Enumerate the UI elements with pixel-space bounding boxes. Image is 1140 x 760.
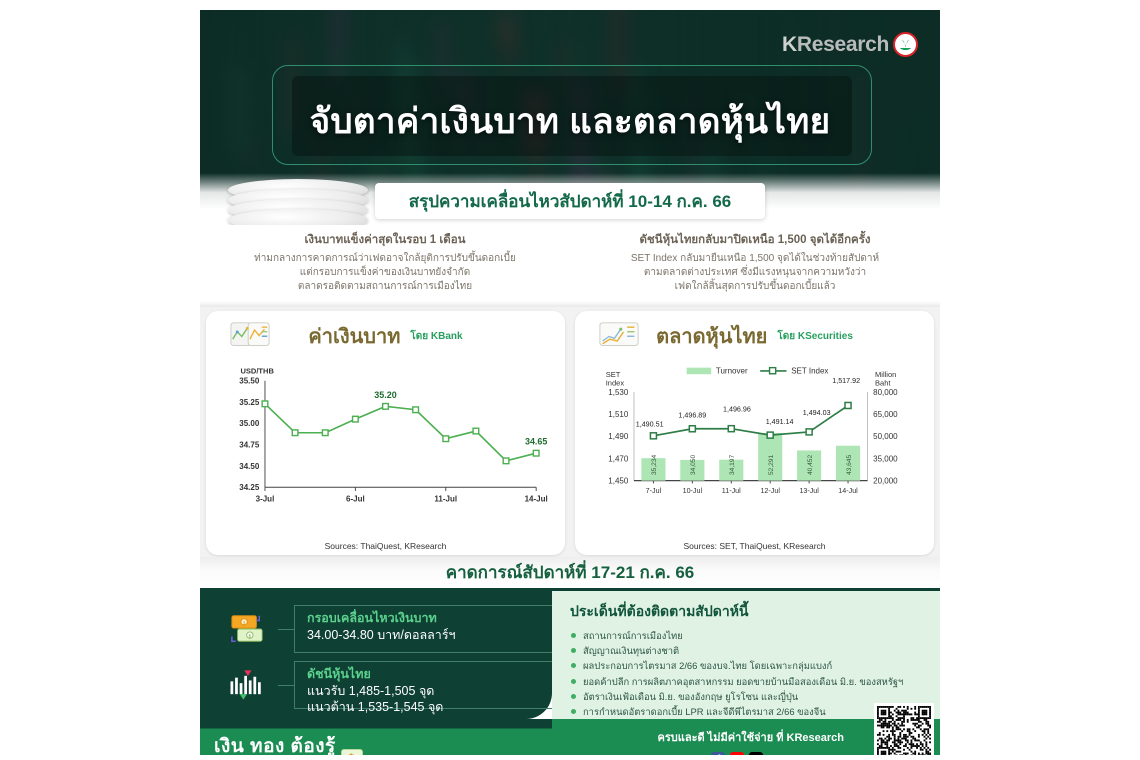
topic-item: ผลประกอบการไตรมาส 2/66 ของบจ.ไทย โดยเฉพา… (570, 658, 926, 673)
svg-text:35.20: 35.20 (374, 390, 396, 400)
card-baht-title: ค่าเงินบาท (308, 320, 400, 352)
logo-text-k: K (782, 33, 797, 56)
svg-text:Index: Index (606, 379, 625, 388)
svg-text:35,234: 35,234 (651, 455, 658, 475)
forecast-body: $ $ กรอบเคลื่อนไหวเงินบาท 34.00-34.80 บา… (200, 591, 940, 719)
baht-chart-source: Sources: ThaiQuest, KResearch (325, 541, 447, 551)
svg-text:34.25: 34.25 (239, 483, 260, 492)
tiktok-icon[interactable]: ♪ (749, 752, 763, 755)
youtube-icon[interactable]: ▶ (730, 752, 744, 755)
forecast-baht-label: กรอบเคลื่อนไหวเงินบาท (307, 611, 542, 627)
svg-text:40,452: 40,452 (807, 455, 814, 475)
svg-text:$: $ (249, 634, 252, 640)
forecast-set-label: ดัชนีหุ้นไทย (307, 667, 542, 683)
subtitle-text: สรุปความเคลื่อนไหวสัปดาห์ที่ 10-14 ก.ค. … (409, 188, 732, 215)
svg-text:1,450: 1,450 (608, 476, 629, 485)
connector-line (278, 685, 294, 686)
footer-info-panel: ครบและดี ไม่มีค่าใช้จ่าย ที่ KResearch w… (552, 719, 940, 755)
svg-text:12-Jul: 12-Jul (760, 487, 780, 495)
svg-text:7-Jul: 7-Jul (646, 487, 662, 495)
svg-text:6-Jul: 6-Jul (346, 494, 365, 503)
forecast-title: คาดการณ์สัปดาห์ที่ 17-21 ก.ค. 66 (446, 559, 695, 586)
summary-baht-heading: เงินบาทแข็งค่าสุดในรอบ 1 เดือน (216, 231, 554, 249)
summary-baht-line3: ตลาดรอติดตามสถานการณ์การเมืองไทย (298, 281, 472, 292)
connector-line (278, 629, 294, 630)
svg-text:43,645: 43,645 (846, 455, 853, 475)
svg-text:Turnover: Turnover (716, 366, 748, 375)
logo-text-rest: Research (797, 33, 889, 56)
svg-text:35.00: 35.00 (239, 419, 260, 428)
svg-text:35.25: 35.25 (239, 398, 260, 407)
card-baht: ค่าเงินบาท โดย KBank USD/THB34.2534.5034… (206, 311, 565, 555)
baht-chart: USD/THB34.2534.5034.7535.0035.2535.503-J… (216, 355, 555, 535)
svg-text:1,510: 1,510 (608, 410, 629, 419)
forecast-set-value2: แนวต้าน 1,535-1,545 จุด (307, 699, 542, 715)
summary-set-heading: ดัชนีหุ้นไทยกลับมาปิดเหนือ 1,500 จุดได้อ… (586, 231, 924, 249)
svg-text:1,517.92: 1,517.92 (832, 377, 860, 385)
svg-text:80,000: 80,000 (873, 388, 898, 397)
forecast-left-panel: $ $ กรอบเคลื่อนไหวเงินบาท 34.00-34.80 บา… (200, 591, 552, 719)
summary-baht-line1: ท่ามกลางการคาดการณ์ว่าเฟดอาจใกล้ยุติการป… (254, 253, 516, 264)
footer: เงิน ทอง ต้องรู้ ฿ ครบและดี ไม่มีค่าใช้จ… (200, 719, 940, 755)
forecast-item-baht: $ $ กรอบเคลื่อนไหวเงินบาท 34.00-34.80 บา… (200, 601, 552, 657)
card-set-by: โดย KSecurities (777, 329, 853, 344)
svg-text:34.50: 34.50 (239, 462, 260, 471)
bar-chart-icon (599, 321, 639, 349)
summary-baht-line2: แต่กรอบการแข็งค่าของเงินบาทยังจำกัด (300, 267, 470, 278)
svg-text:34,050: 34,050 (690, 455, 697, 475)
forecast-set-value1: แนวรับ 1,485-1,505 จุด (307, 683, 542, 699)
set-chart: SETIndexMillionBahtTurnoverSET Index1,45… (585, 355, 924, 535)
summary-set-line2: ตามตลาดต่างประเทศ ซึ่งมีแรงหนุนจากความหว… (644, 267, 866, 278)
topic-item: การกำหนดอัตราดอกเบี้ย LPR และจีดีพีไตรมา… (570, 704, 926, 719)
card-baht-header: ค่าเงินบาท โดย KBank (216, 319, 555, 353)
card-set-title: ตลาดหุ้นไทย (656, 320, 767, 352)
qr-code-icon[interactable] (874, 703, 934, 755)
banknotes-icon: $ $ (216, 612, 278, 646)
svg-text:Baht: Baht (875, 379, 891, 388)
svg-text:11-Jul: 11-Jul (722, 487, 741, 495)
svg-text:SET Index: SET Index (791, 366, 828, 375)
svg-text:USD/THB: USD/THB (240, 366, 274, 375)
svg-text:14-Jul: 14-Jul (525, 494, 548, 503)
svg-text:65,000: 65,000 (873, 410, 898, 419)
svg-text:1,494.03: 1,494.03 (803, 409, 831, 417)
footer-url[interactable]: www.kasikornresearch.com (591, 754, 707, 756)
poster: KResearch จับตาค่าเงินบาท และตลาดหุ้นไทย… (200, 10, 940, 755)
svg-text:1,490.51: 1,490.51 (636, 420, 664, 428)
svg-text:34,197: 34,197 (729, 455, 736, 475)
svg-text:52,291: 52,291 (768, 455, 775, 475)
forecast-baht-box: กรอบเคลื่อนไหวเงินบาท 34.00-34.80 บาท/ดอ… (294, 605, 552, 653)
card-baht-by: โดย KBank (410, 329, 462, 344)
svg-text:1,530: 1,530 (608, 388, 629, 397)
line-chart-icon (230, 321, 270, 349)
svg-text:$: $ (243, 620, 246, 626)
svg-text:3-Jul: 3-Jul (256, 494, 275, 503)
svg-text:1,470: 1,470 (608, 454, 629, 463)
logo-text: KResearch (782, 33, 889, 57)
card-set-header: ตลาดหุ้นไทย โดย KSecurities (585, 319, 924, 353)
set-chart-source: Sources: SET, ThaiQuest, KResearch (683, 541, 825, 551)
svg-text:34.75: 34.75 (239, 440, 260, 449)
money-note-icon: ฿ (341, 749, 363, 755)
summary-section: เงินบาทแข็งค่าสุดในรอบ 1 เดือน ท่ามกลางก… (200, 225, 940, 307)
topics-list: สถานการณ์การเมืองไทยสัญญาณเงินทุนต่างชาต… (570, 628, 926, 719)
topic-item: สัญญาณเงินทุนต่างชาติ (570, 643, 926, 658)
kasikorn-leaf-logo-icon (893, 32, 918, 57)
infographic-page: KResearch จับตาค่าเงินบาท และตลาดหุ้นไทย… (0, 0, 1140, 760)
footer-links: www.kasikornresearch.com f ▶ ♪ KResearch… (552, 746, 844, 755)
charts-section: ค่าเงินบาท โดย KBank USD/THB34.2534.5034… (200, 307, 940, 557)
svg-text:10-Jul: 10-Jul (683, 487, 703, 495)
svg-text:50,000: 50,000 (873, 432, 898, 441)
header-banner: KResearch จับตาค่าเงินบาท และตลาดหุ้นไทย… (200, 10, 940, 225)
summary-set-line3: เฟดใกล้สิ้นสุดการปรับขึ้นดอกเบี้ยแล้ว (675, 281, 836, 292)
footer-brand-panel: เงิน ทอง ต้องรู้ ฿ (200, 719, 552, 755)
summary-set: ดัชนีหุ้นไทยกลับมาปิดเหนือ 1,500 จุดได้อ… (570, 231, 940, 307)
svg-text:1,491.14: 1,491.14 (766, 418, 794, 426)
forecast-set-box: ดัชนีหุ้นไทย แนวรับ 1,485-1,505 จุด แนวต… (294, 661, 552, 709)
footer-channel: KResearchCenter (768, 754, 844, 756)
summary-baht: เงินบาทแข็งค่าสุดในรอบ 1 เดือน ท่ามกลางก… (200, 231, 570, 307)
svg-text:13-Jul: 13-Jul (799, 487, 819, 495)
topic-item: สถานการณ์การเมืองไทย (570, 628, 926, 643)
svg-text:1,490: 1,490 (608, 432, 629, 441)
subtitle-banner: สรุปความเคลื่อนไหวสัปดาห์ที่ 10-14 ก.ค. … (375, 183, 765, 219)
coin-stack-decoration (228, 167, 378, 225)
forecast-title-bar: คาดการณ์สัปดาห์ที่ 17-21 ก.ค. 66 (200, 557, 940, 591)
forecast-baht-value: 34.00-34.80 บาท/ดอลลาร์ฯ (307, 627, 542, 643)
page-title: จับตาค่าเงินบาท และตลาดหุ้นไทย (200, 94, 940, 149)
facebook-icon[interactable]: f (711, 752, 725, 755)
forecast-right-panel: ประเด็นที่ต้องติดตามสัปดาห์นี้ สถานการณ์… (552, 591, 940, 719)
footer-brand: เงิน ทอง ต้องรู้ ฿ (214, 731, 363, 755)
svg-text:20,000: 20,000 (873, 476, 898, 485)
svg-text:11-Jul: 11-Jul (434, 494, 457, 503)
topic-item: ยอดค้าปลีก การผลิตภาคอุตสาหกรรม ยอดขายบ้… (570, 674, 926, 689)
svg-text:14-Jul: 14-Jul (838, 487, 858, 495)
footer-tagline: เงิน ทอง ต้องรู้ (214, 731, 336, 755)
svg-text:35,000: 35,000 (873, 454, 898, 463)
svg-text:1,496.96: 1,496.96 (723, 406, 751, 414)
topics-title: ประเด็นที่ต้องติดตามสัปดาห์นี้ (570, 601, 926, 623)
svg-text:1,496.89: 1,496.89 (678, 411, 706, 419)
summary-set-line1: SET Index กลับมายืนเหนือ 1,500 จุดได้ในช… (631, 253, 879, 264)
candlestick-icon (216, 668, 278, 702)
footer-promo: ครบและดี ไม่มีค่าใช้จ่าย ที่ KResearch (552, 723, 844, 746)
svg-text:35.50: 35.50 (239, 377, 260, 386)
forecast-item-set: ดัชนีหุ้นไทย แนวรับ 1,485-1,505 จุด แนวต… (200, 657, 552, 713)
topic-item: อัตราเงินเฟ้อเดือน มิ.ย. ของอังกฤษ ยูโรโ… (570, 689, 926, 704)
svg-text:34.65: 34.65 (525, 437, 547, 447)
kresearch-logo: KResearch (782, 32, 918, 57)
card-set: ตลาดหุ้นไทย โดย KSecurities SETIndexMill… (575, 311, 934, 555)
